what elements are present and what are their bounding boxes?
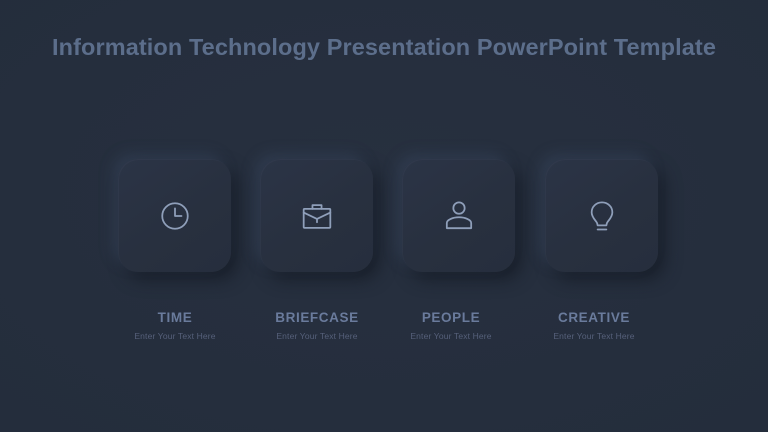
item-sublabel: Enter Your Text Here: [523, 331, 665, 341]
item-label: TIME: [104, 310, 246, 325]
label-group-time: TIME Enter Your Text Here: [104, 310, 246, 341]
item-label: PEOPLE: [380, 310, 522, 325]
clock-icon: [118, 159, 231, 272]
label-group-creative: CREATIVE Enter Your Text Here: [523, 310, 665, 341]
item-label: BRIEFCASE: [246, 310, 388, 325]
item-sublabel: Enter Your Text Here: [380, 331, 522, 341]
item-sublabel: Enter Your Text Here: [104, 331, 246, 341]
label-group-briefcase: BRIEFCASE Enter Your Text Here: [246, 310, 388, 341]
label-row: TIME Enter Your Text Here BRIEFCASE Ente…: [104, 310, 674, 360]
icon-card-row: [118, 159, 658, 273]
page-title: Information Technology Presentation Powe…: [0, 34, 768, 61]
item-label: CREATIVE: [523, 310, 665, 325]
lightbulb-icon: [545, 159, 658, 272]
item-sublabel: Enter Your Text Here: [246, 331, 388, 341]
label-group-people: PEOPLE Enter Your Text Here: [380, 310, 522, 341]
briefcase-icon: [260, 159, 373, 272]
slide-canvas: Information Technology Presentation Powe…: [0, 0, 768, 432]
icon-card-people[interactable]: [402, 159, 515, 272]
icon-card-time[interactable]: [118, 159, 231, 272]
person-icon: [402, 159, 515, 272]
icon-card-briefcase[interactable]: [260, 159, 373, 272]
icon-card-creative[interactable]: [545, 159, 658, 272]
